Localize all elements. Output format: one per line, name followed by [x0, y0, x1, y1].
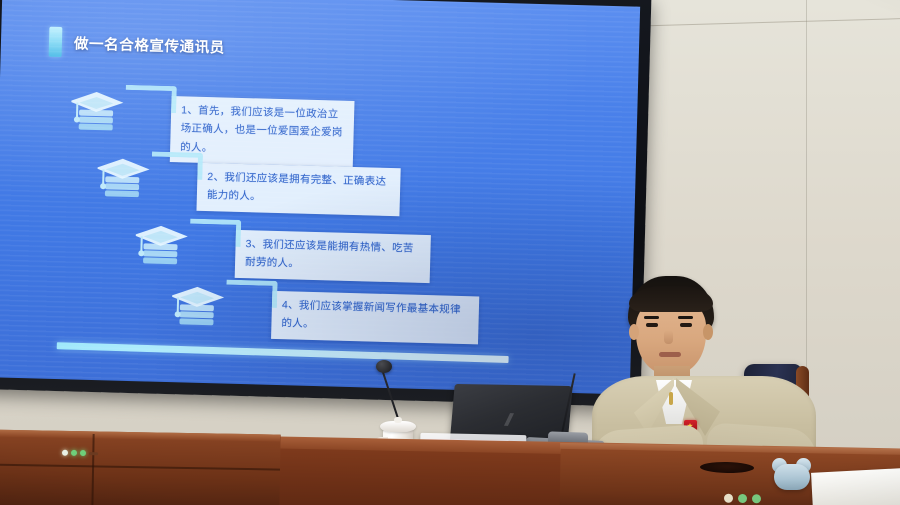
led-green: [738, 494, 747, 503]
presentation-screen: 做一名合格宣传通讯员: [0, 0, 651, 407]
blue-headset: [770, 458, 814, 492]
headset-body: [774, 464, 810, 490]
bullet-text: 2、我们还应该是拥有完整、正确表达能力的人。: [196, 163, 400, 216]
screen-panel: 做一名合格宣传通讯员: [0, 0, 640, 395]
slide-bullet-4: 4、我们应该掌握新闻写作最基本规律的人。: [171, 282, 479, 344]
bullet-text: 4、我们应该掌握新闻写作最基本规律的人。: [271, 291, 479, 344]
ear-left: [629, 324, 639, 340]
led-green: [71, 450, 77, 456]
slide-content: 做一名合格宣传通讯员: [0, 0, 640, 395]
cabinet-led-group: [62, 450, 98, 457]
bracket-decor: [226, 280, 278, 308]
led-terminal: [89, 452, 98, 455]
hair-fringe: [629, 286, 713, 312]
paper-sheet: [811, 467, 900, 505]
slide-bullet-2: 2、我们还应该是拥有完整、正确表达能力的人。: [97, 154, 401, 216]
bracket-decor: [125, 85, 177, 113]
title-accent-bar: [49, 27, 63, 57]
microphone-head: [376, 360, 392, 373]
slide-footer-bar: [57, 342, 509, 363]
slide-bullet-3: 3、我们还应该是能拥有热情、吃苦耐劳的人。: [135, 221, 431, 283]
screenshot-scene: 做一名合格宣传通讯员: [0, 0, 900, 505]
slide-title: 做一名合格宣传通讯员: [74, 32, 226, 57]
mouth: [659, 352, 681, 357]
eye-right: [680, 323, 692, 327]
slide-title-row: 做一名合格宣传通讯员: [49, 27, 226, 62]
ear-right: [703, 324, 713, 340]
zipper-pull: [669, 392, 673, 405]
led-white: [62, 450, 68, 456]
eye-left: [646, 323, 658, 327]
podium-led-group: [724, 494, 761, 504]
cup-knob: [394, 417, 402, 423]
bullet-text: 3、我们还应该是能拥有热情、吃苦耐劳的人。: [235, 230, 431, 283]
eyebrow-right: [678, 316, 693, 319]
bracket-decor: [190, 219, 242, 247]
nose: [664, 330, 673, 344]
graduation-cap-icon: [97, 154, 154, 203]
led-green: [80, 450, 86, 456]
graduation-cap-icon: [171, 282, 228, 331]
bracket-decor: [151, 152, 203, 180]
led-cream: [724, 494, 733, 503]
led-green: [752, 494, 761, 503]
graduation-cap-icon: [135, 221, 192, 270]
eyebrow-left: [644, 316, 659, 319]
graduation-cap-icon: [70, 87, 127, 136]
